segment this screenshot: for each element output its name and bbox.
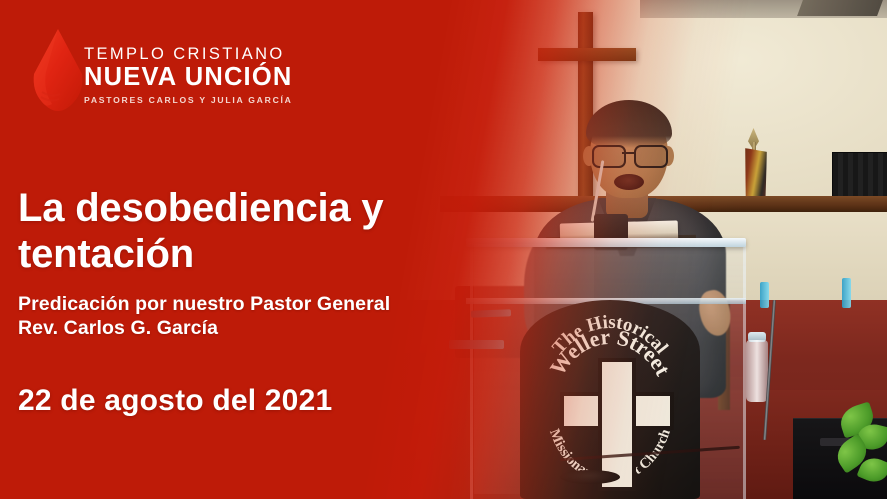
sermon-date: 22 de agosto del 2021 xyxy=(18,384,332,418)
sermon-subtitle: Predicación por nuestro Pastor General R… xyxy=(18,292,488,341)
sermon-title: La desobediencia y tentación xyxy=(18,186,488,277)
subtitle-line-2: Rev. Carlos G. García xyxy=(18,316,488,340)
text-content: TEMPLO CRISTIANO NUEVA UNCIÓN PASTORES C… xyxy=(0,0,887,499)
logo-line-1: TEMPLO CRISTIANO xyxy=(84,46,334,63)
flame-drop-icon xyxy=(30,28,86,112)
sermon-title-card: The Historical Weller Street Missionary … xyxy=(0,0,887,499)
logo-wordmark: TEMPLO CRISTIANO NUEVA UNCIÓN PASTORES C… xyxy=(84,46,334,105)
subtitle-line-1: Predicación por nuestro Pastor General xyxy=(18,292,488,316)
logo-line-3: PASTORES CARLOS Y JULIA GARCÍA xyxy=(84,96,334,105)
church-logo: TEMPLO CRISTIANO NUEVA UNCIÓN PASTORES C… xyxy=(18,26,338,118)
logo-line-2: NUEVA UNCIÓN xyxy=(84,63,334,92)
